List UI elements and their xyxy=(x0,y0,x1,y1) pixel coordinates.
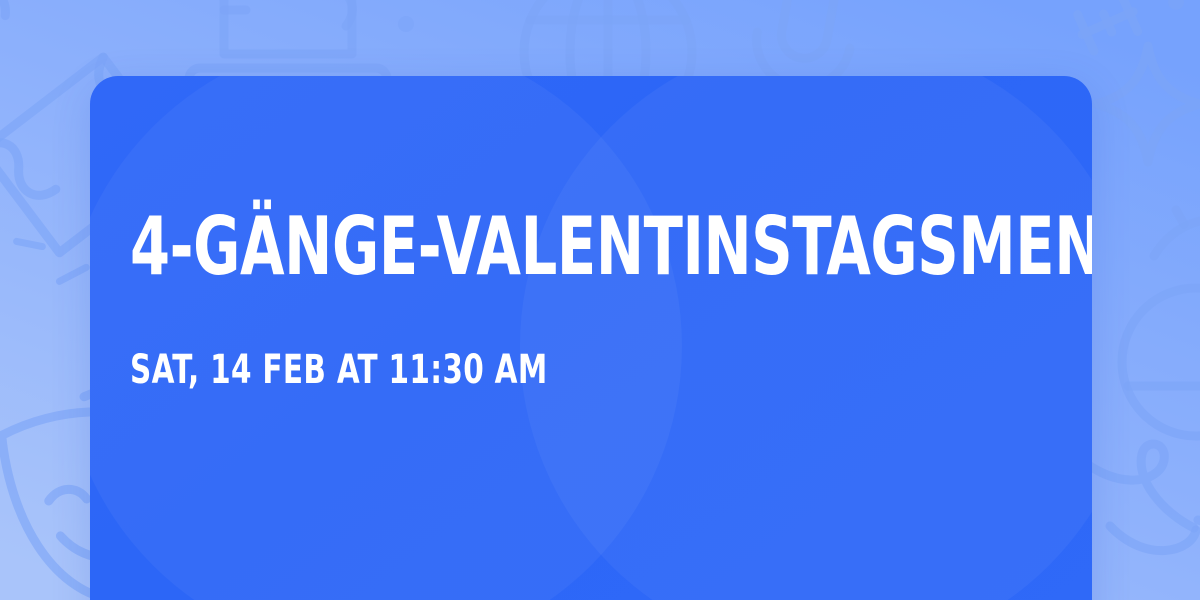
event-datetime: SAT, 14 FEB AT 11:30 AM xyxy=(130,350,548,390)
event-card[interactable]: 4-GÄNGE-VALENTINSTAGSMENÜ SAT, 14 FEB AT… xyxy=(90,76,1092,600)
swirl-line-icon xyxy=(1110,526,1196,551)
dumbbell-icon xyxy=(1074,0,1141,53)
event-banner: 4-GÄNGE-VALENTINSTAGSMENÜ SAT, 14 FEB AT… xyxy=(0,0,1200,600)
stadium-dome-icon xyxy=(1122,288,1200,436)
event-title: 4-GÄNGE-VALENTINSTAGSMENÜ xyxy=(130,207,1092,287)
sparkle-dash-icon xyxy=(58,267,88,281)
sparkle-icon xyxy=(1096,46,1200,162)
event-card-content: 4-GÄNGE-VALENTINSTAGSMENÜ SAT, 14 FEB AT… xyxy=(130,76,1092,600)
star-burst-icon xyxy=(398,16,414,32)
confetti-icon xyxy=(1154,196,1200,256)
ticket-icon xyxy=(0,0,7,24)
sparkle-dash-icon xyxy=(17,238,43,251)
dot-icon xyxy=(1168,0,1184,10)
